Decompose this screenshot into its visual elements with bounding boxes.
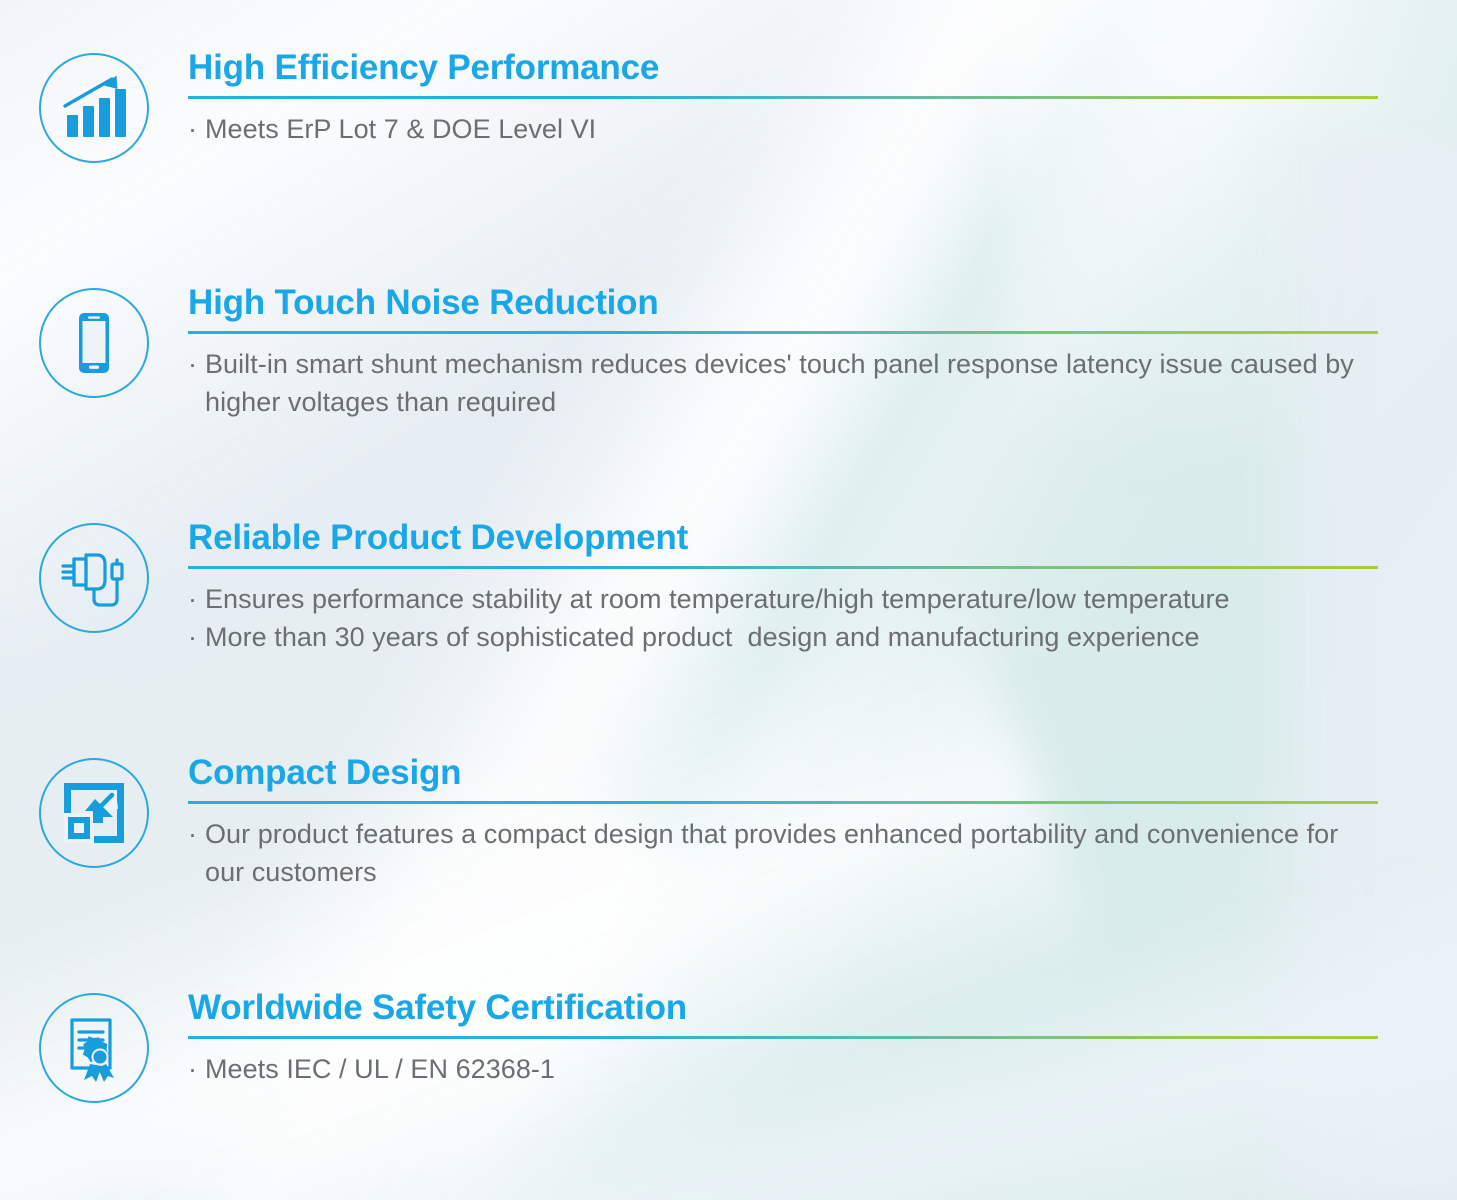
feature-row-compact-design: Compact Design · Our product features a … xyxy=(0,752,1457,891)
bullet-marker: · xyxy=(188,618,205,656)
compact-resize-icon xyxy=(39,758,149,868)
feature-text-block: Reliable Product Development · Ensures p… xyxy=(188,517,1457,656)
bullet-text: Meets IEC / UL / EN 62368-1 xyxy=(205,1050,1378,1088)
feature-icon-slot xyxy=(0,987,188,1103)
list-item: · More than 30 years of sophisticated pr… xyxy=(188,618,1378,656)
bullet-text: Ensures performance stability at room te… xyxy=(205,580,1378,618)
list-item: · Meets ErP Lot 7 & DOE Level VI xyxy=(188,110,1378,148)
feature-icon-slot xyxy=(0,752,188,868)
feature-icon-slot xyxy=(0,517,188,633)
feature-bullet-list: · Meets ErP Lot 7 & DOE Level VI xyxy=(188,110,1378,148)
feature-divider xyxy=(188,801,1378,804)
feature-row-high-efficiency-performance: High Efficiency Performance · Meets ErP … xyxy=(0,47,1457,163)
feature-row-reliable-product-development: Reliable Product Development · Ensures p… xyxy=(0,517,1457,656)
feature-title: High Touch Noise Reduction xyxy=(188,282,1378,324)
feature-divider xyxy=(188,1036,1378,1039)
bullet-marker: · xyxy=(188,110,205,148)
feature-bullet-list: · Ensures performance stability at room … xyxy=(188,580,1378,656)
feature-text-block: High Touch Noise Reduction · Built-in sm… xyxy=(188,282,1457,421)
feature-text-block: Compact Design · Our product features a … xyxy=(188,752,1457,891)
feature-bullet-list: · Built-in smart shunt mechanism reduces… xyxy=(188,345,1378,421)
feature-bullet-list: · Our product features a compact design … xyxy=(188,815,1378,891)
list-item: · Meets IEC / UL / EN 62368-1 xyxy=(188,1050,1378,1088)
feature-title: Reliable Product Development xyxy=(188,517,1378,559)
feature-text-block: High Efficiency Performance · Meets ErP … xyxy=(188,47,1457,148)
bullet-text: Built-in smart shunt mechanism reduces d… xyxy=(205,345,1378,421)
bullet-marker: · xyxy=(188,580,205,618)
certificate-seal-icon xyxy=(39,993,149,1103)
smartphone-icon xyxy=(39,288,149,398)
features-container: High Efficiency Performance · Meets ErP … xyxy=(0,0,1457,1200)
bullet-text: More than 30 years of sophisticated prod… xyxy=(205,618,1378,656)
feature-icon-slot xyxy=(0,47,188,163)
feature-title: Worldwide Safety Certification xyxy=(188,987,1378,1029)
bullet-marker: · xyxy=(188,345,205,421)
feature-text-block: Worldwide Safety Certification · Meets I… xyxy=(188,987,1457,1088)
feature-bullet-list: · Meets IEC / UL / EN 62368-1 xyxy=(188,1050,1378,1088)
list-item: · Ensures performance stability at room … xyxy=(188,580,1378,618)
bullet-text: Our product features a compact design th… xyxy=(205,815,1378,891)
feature-list-page: High Efficiency Performance · Meets ErP … xyxy=(0,0,1457,1200)
bullet-marker: · xyxy=(188,1050,205,1088)
list-item: · Built-in smart shunt mechanism reduces… xyxy=(188,345,1378,421)
power-adapter-icon xyxy=(39,523,149,633)
bullet-text: Meets ErP Lot 7 & DOE Level VI xyxy=(205,110,1378,148)
feature-title: Compact Design xyxy=(188,752,1378,794)
bar-chart-growth-icon xyxy=(39,53,149,163)
feature-icon-slot xyxy=(0,282,188,398)
bullet-marker: · xyxy=(188,815,205,891)
feature-divider xyxy=(188,96,1378,99)
list-item: · Our product features a compact design … xyxy=(188,815,1378,891)
feature-row-high-touch-noise-reduction: High Touch Noise Reduction · Built-in sm… xyxy=(0,282,1457,421)
feature-row-worldwide-safety-certification: Worldwide Safety Certification · Meets I… xyxy=(0,987,1457,1103)
feature-divider xyxy=(188,331,1378,334)
feature-title: High Efficiency Performance xyxy=(188,47,1378,89)
feature-divider xyxy=(188,566,1378,569)
